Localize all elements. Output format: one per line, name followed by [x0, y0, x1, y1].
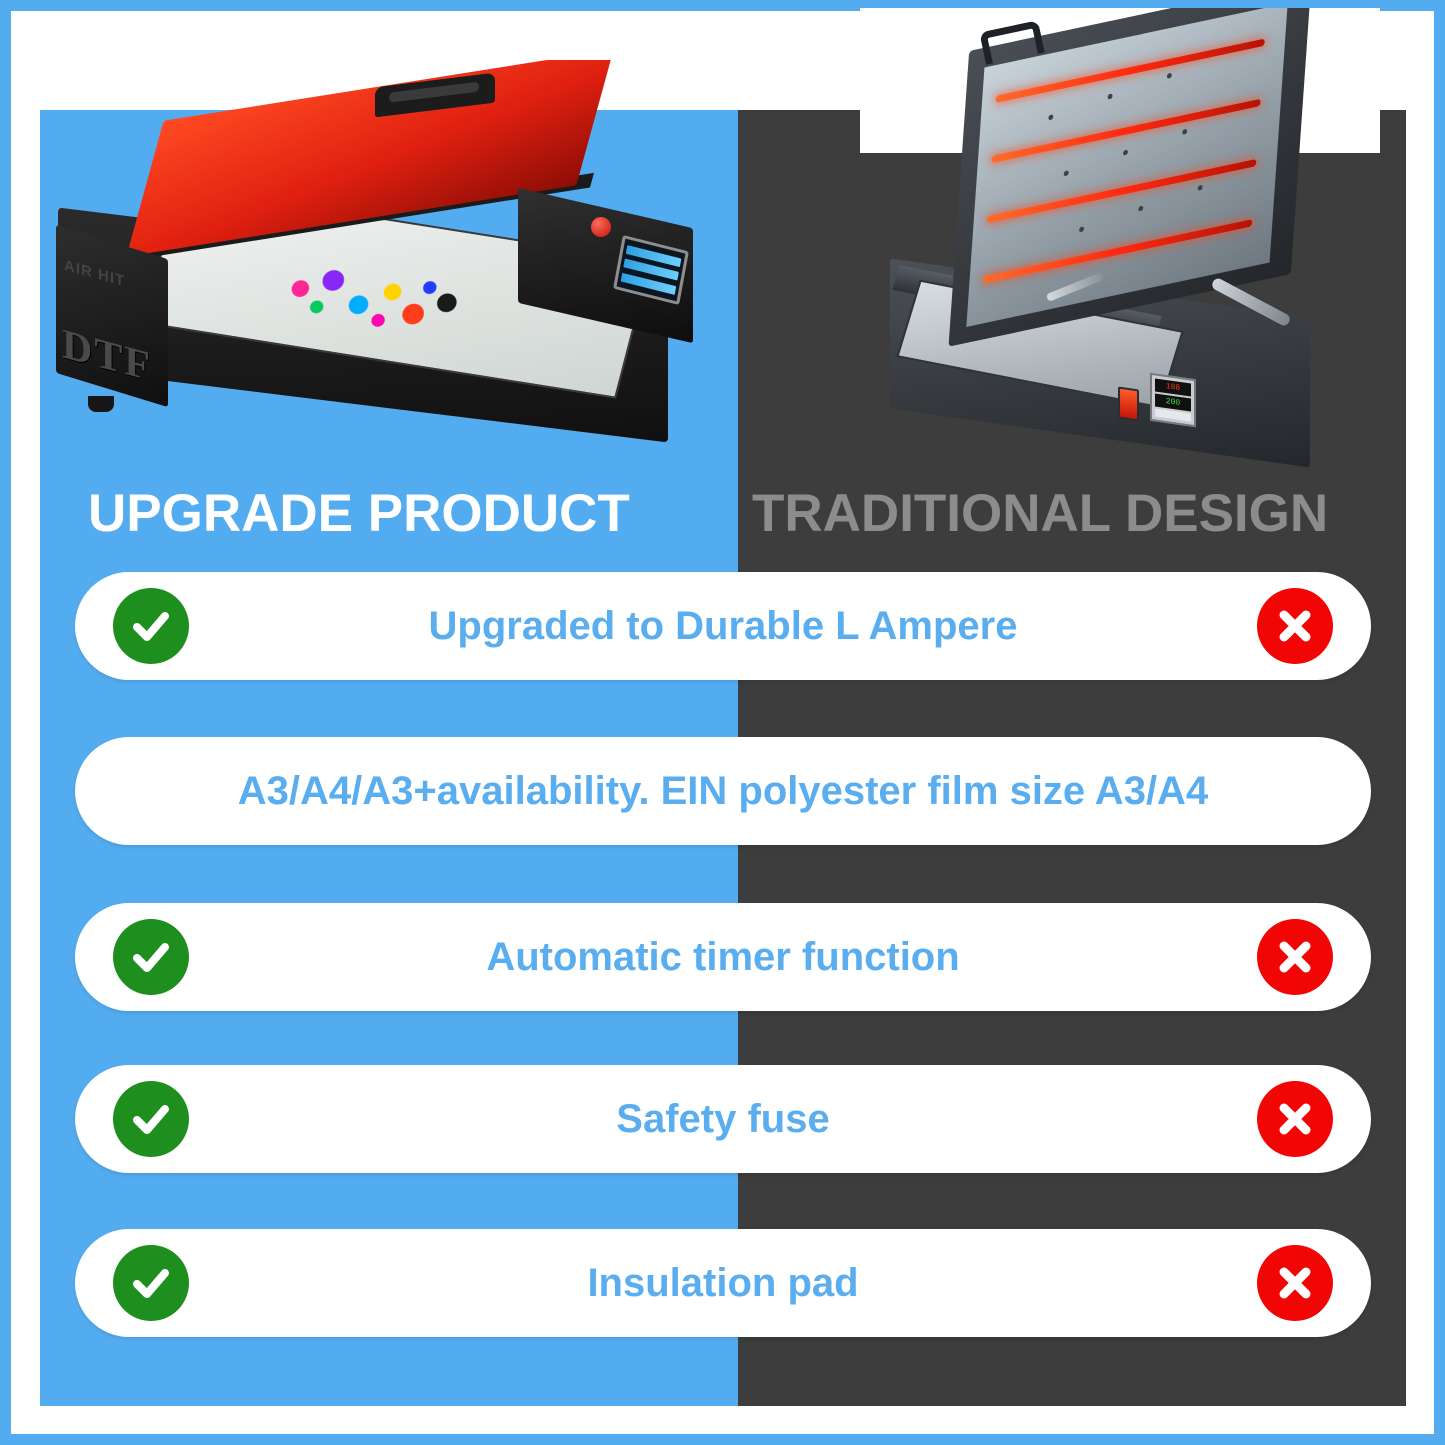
feature-label: Automatic timer function [75, 903, 1371, 1011]
vent-hole [1123, 149, 1128, 155]
comparison-infographic: AIR HIT DTF [0, 0, 1445, 1445]
feature-label: Insulation pad [75, 1229, 1371, 1337]
dtf-heat-press-illustration: AIR HIT DTF [40, 60, 738, 480]
frame-border-left [0, 0, 11, 1445]
cross-icon [1257, 919, 1333, 995]
oven-power-switch [1118, 387, 1139, 422]
heating-element [987, 159, 1256, 223]
traditional-oven-illustration: 188 200 [860, 8, 1380, 478]
vent-hole [1197, 185, 1202, 191]
cross-icon [1257, 588, 1333, 664]
feature-row: Automatic timer function [75, 903, 1371, 1011]
cross-icon [1257, 1245, 1333, 1321]
vent-hole [1048, 114, 1053, 120]
frame-border-right [1434, 0, 1445, 1445]
vent-hole [1138, 205, 1143, 211]
upgrade-product-photo: AIR HIT DTF [40, 60, 738, 480]
vent-hole [1107, 93, 1112, 99]
vent-hole [1079, 226, 1084, 232]
feature-row: Insulation pad [75, 1229, 1371, 1337]
feature-row: Safety fuse [75, 1065, 1371, 1173]
vent-hole [1182, 129, 1187, 135]
heating-element [983, 219, 1252, 283]
feature-label: A3/A4/A3+availability. EIN polyester fil… [75, 737, 1371, 845]
press-power-button [591, 217, 611, 237]
traditional-column-header: TRADITIONAL DESIGN [752, 487, 1328, 540]
vent-hole [1064, 170, 1069, 176]
frame-border-bottom [0, 1434, 1445, 1445]
cross-icon [1257, 1081, 1333, 1157]
feature-row: Upgraded to Durable L Ampere [75, 572, 1371, 680]
oven-controller: 188 200 [1150, 373, 1196, 427]
feature-label: Upgraded to Durable L Ampere [75, 572, 1371, 680]
vent-hole [1167, 73, 1172, 79]
feature-row: A3/A4/A3+availability. EIN polyester fil… [75, 737, 1371, 845]
upgrade-column-header: UPGRADE PRODUCT [88, 487, 630, 540]
press-foot [635, 362, 661, 378]
traditional-product-photo: 188 200 [860, 8, 1380, 478]
feature-label: Safety fuse [75, 1065, 1371, 1173]
press-foot [88, 396, 114, 412]
